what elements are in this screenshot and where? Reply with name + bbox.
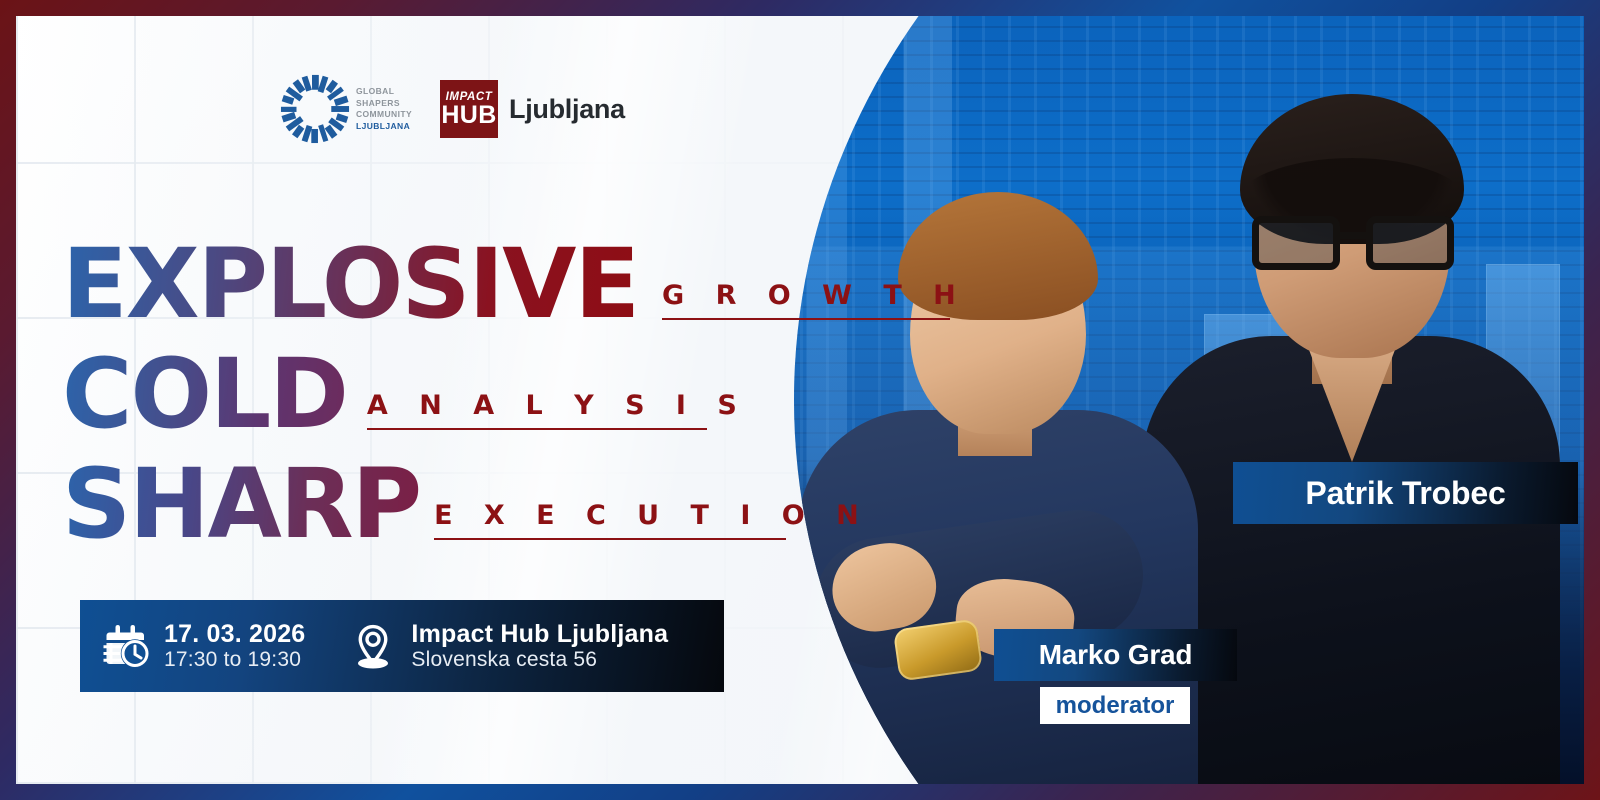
event-info-bar: 17. 03. 2026 17:30 to 19:30 Impact Hub L…	[80, 600, 724, 692]
impact-hub-mark: IMPACT HUB	[440, 80, 498, 138]
headline-word-explosive: EXPLOSIVE	[62, 236, 638, 332]
headline-line-1: EXPLOSIVE G R O W T H	[62, 222, 967, 332]
impact-hub-logo: IMPACT HUB Ljubljana	[440, 80, 625, 138]
headline-sub-growth: G R O W T H	[662, 280, 967, 320]
impact-hub-hub-text: HUB	[441, 103, 496, 128]
headline-sub-analysis-text: A N A L Y S I S	[367, 390, 748, 421]
event-venue-value: Impact Hub Ljubljana	[411, 620, 668, 648]
patrik-name-text: Patrik Trobec	[1305, 475, 1505, 512]
event-date-item: 17. 03. 2026 17:30 to 19:30	[80, 620, 305, 672]
poster-canvas: GLOBAL SHAPERS COMMUNITY LJUBLJANA IMPAC…	[16, 16, 1584, 784]
headline-word-sharp: SHARP	[62, 456, 420, 552]
marko-name-text: Marko Grad	[1039, 639, 1193, 671]
gs-line-global: GLOBAL	[356, 86, 412, 98]
headline-word-cold: COLD	[62, 346, 347, 442]
headline-sub-execution-text: E X E C U T I O N	[434, 500, 870, 531]
headline-sub-execution: E X E C U T I O N	[434, 500, 870, 540]
headline-line-2: COLD A N A L Y S I S	[62, 332, 967, 442]
headline-line-3: SHARP E X E C U T I O N	[62, 442, 967, 552]
logo-row: GLOBAL SHAPERS COMMUNITY LJUBLJANA IMPAC…	[278, 72, 625, 146]
patrik-nameplate: Patrik Trobec	[1233, 462, 1578, 524]
marko-role-text: moderator	[1056, 692, 1175, 720]
event-date-text: 17. 03. 2026 17:30 to 19:30	[164, 620, 305, 672]
marko-role-badge: moderator	[1040, 687, 1190, 724]
headline-block: EXPLOSIVE G R O W T H COLD A N A L Y S I…	[62, 222, 967, 552]
event-poster: GLOBAL SHAPERS COMMUNITY LJUBLJANA IMPAC…	[0, 0, 1600, 800]
headline-rule-3	[434, 538, 786, 540]
headline-rule-2	[367, 428, 707, 430]
gs-line-community: COMMUNITY	[356, 109, 412, 121]
event-date-value: 17. 03. 2026	[164, 620, 305, 648]
global-shapers-logo: GLOBAL SHAPERS COMMUNITY LJUBLJANA	[278, 72, 412, 146]
glasses-lens-left	[1252, 216, 1340, 270]
headline-rule-1	[662, 318, 950, 320]
glasses-bridge	[1340, 232, 1366, 239]
calendar-clock-icon	[102, 622, 150, 670]
headline-sub-growth-text: G R O W T H	[662, 280, 967, 311]
global-shapers-circle-icon	[278, 72, 352, 146]
location-pin-icon	[349, 622, 397, 670]
glasses-icon	[1252, 216, 1454, 270]
event-time-value: 17:30 to 19:30	[164, 648, 305, 672]
impact-hub-city-text: Ljubljana	[509, 94, 625, 125]
marko-nameplate: Marko Grad	[994, 629, 1237, 681]
event-address-value: Slovenska cesta 56	[411, 648, 668, 672]
event-place-text: Impact Hub Ljubljana Slovenska cesta 56	[411, 620, 668, 672]
event-place-item: Impact Hub Ljubljana Slovenska cesta 56	[305, 620, 668, 672]
gs-line-shapers: SHAPERS	[356, 98, 412, 110]
glasses-lens-right	[1366, 216, 1454, 270]
gs-line-ljubljana: LJUBLJANA	[356, 121, 412, 133]
headline-sub-analysis: A N A L Y S I S	[367, 390, 748, 430]
global-shapers-wordmark: GLOBAL SHAPERS COMMUNITY LJUBLJANA	[356, 86, 412, 132]
